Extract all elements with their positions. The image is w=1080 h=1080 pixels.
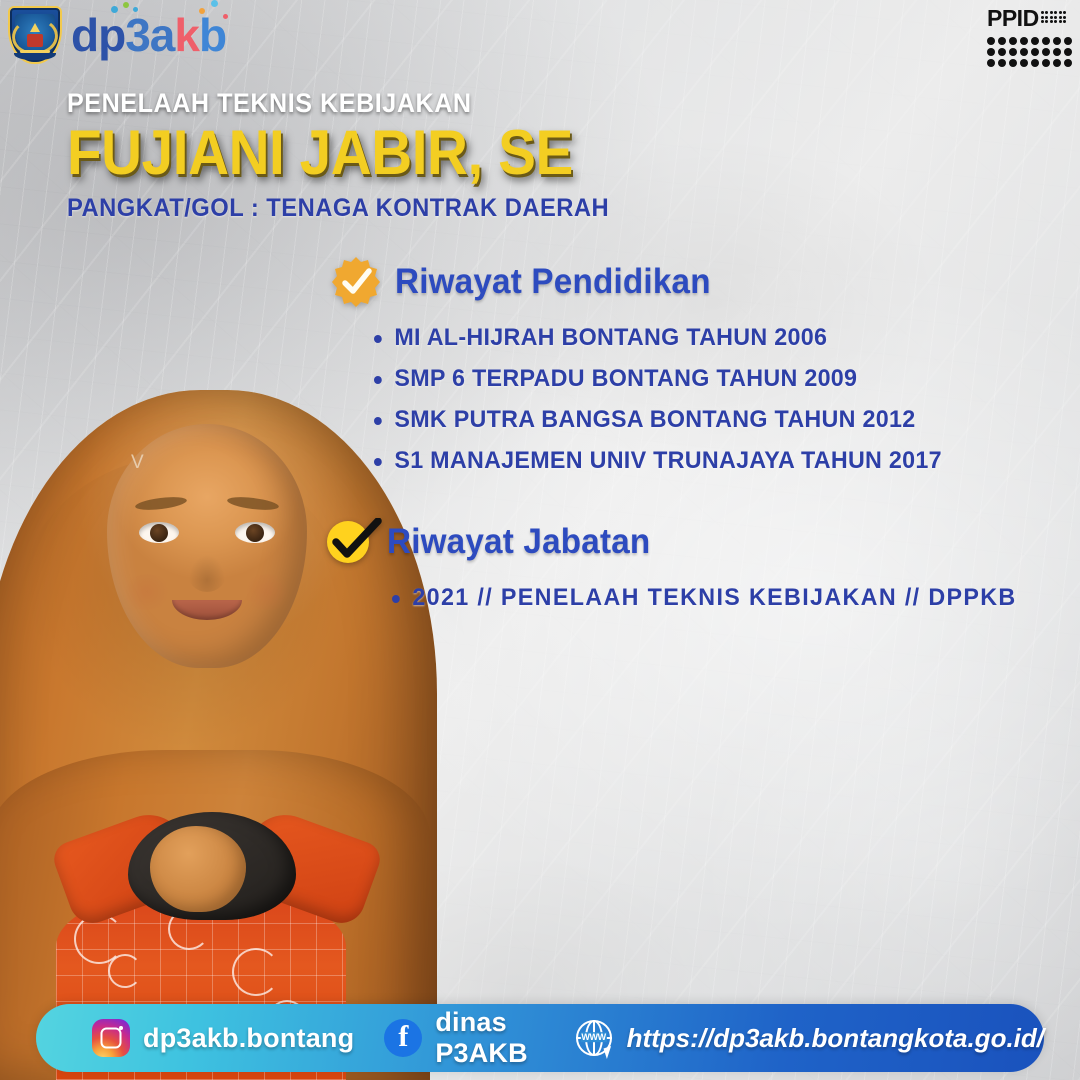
positions-section: Riwayat Jabatan 2021 // PENELAAH TEKNIS … <box>326 518 1036 625</box>
social-footer-bar: dp3akb.bontang dinas P3AKB WWW https://d… <box>36 1004 1044 1072</box>
bullet-dot <box>392 595 400 603</box>
education-section: Riwayat Pendidikan MI AL-HIJRAH BONTANG … <box>330 256 959 488</box>
poster-canvas: dp3akb PPID V <box>0 0 1080 1080</box>
ppid-dots-small <box>1041 11 1067 23</box>
clasped-hands <box>150 826 246 912</box>
sparkle-icon <box>133 7 138 12</box>
list-item: 2021 // PENELAAH TEKNIS KEBIJAKAN // DPP… <box>392 584 1017 612</box>
bullet-dot <box>374 458 382 466</box>
dp3akb-wordmark: dp3akb <box>71 12 226 58</box>
sparkle-icon <box>199 8 205 14</box>
sparkle-icon <box>111 6 118 13</box>
bullet-dot <box>374 376 382 384</box>
wordmark-3: 3 <box>125 9 150 61</box>
list-item: S1 MANAJEMEN UNIV TRUNAJAYA TAHUN 2017 <box>374 447 942 475</box>
check-circle-icon <box>326 518 374 566</box>
instagram-handle[interactable]: dp3akb.bontang <box>92 1019 354 1057</box>
sparkle-icon <box>211 0 218 7</box>
education-list: MI AL-HIJRAH BONTANG TAHUN 2006 SMP 6 TE… <box>374 324 959 475</box>
facebook-handle[interactable]: dinas P3AKB <box>384 1007 543 1069</box>
wordmark-dp: dp <box>71 9 125 61</box>
website-label: https://dp3akb.bontangkota.go.id/ <box>627 1023 1044 1054</box>
facebook-label: dinas P3AKB <box>435 1007 543 1069</box>
face-shape: V <box>107 424 307 668</box>
education-heading: Riwayat Pendidikan <box>395 262 711 302</box>
job-title: PENELAAH TEKNIS KEBIJAKAN <box>67 88 662 119</box>
wordmark-b: b <box>199 9 226 61</box>
ppid-label: PPID <box>987 8 1039 30</box>
globe-icon[interactable]: WWW <box>574 1018 614 1058</box>
watermark-v: V <box>131 452 144 474</box>
list-item: SMK PUTRA BANGSA BONTANG TAHUN 2012 <box>374 406 942 434</box>
ppid-dots-grid <box>987 37 1072 67</box>
wordmark-k: k <box>174 9 199 61</box>
bullet-dot <box>374 335 382 343</box>
facebook-icon[interactable] <box>384 1019 422 1057</box>
list-item-label: 2021 // PENELAAH TEKNIS KEBIJAKAN // DPP… <box>412 584 1016 612</box>
bontang-city-crest-icon <box>8 6 62 64</box>
list-item-label: MI AL-HIJRAH BONTANG TAHUN 2006 <box>394 324 827 352</box>
positions-heading: Riwayat Jabatan <box>387 522 650 562</box>
sparkle-icon <box>123 2 129 8</box>
positions-list: 2021 // PENELAAH TEKNIS KEBIJAKAN // DPP… <box>392 584 1036 612</box>
check-badge-icon <box>330 256 382 308</box>
wordmark-a: a <box>150 9 175 61</box>
instagram-icon[interactable] <box>92 1019 130 1057</box>
list-item: SMP 6 TERPADU BONTANG TAHUN 2009 <box>374 365 942 393</box>
list-item-label: SMK PUTRA BANGSA BONTANG TAHUN 2012 <box>394 406 915 434</box>
list-item: MI AL-HIJRAH BONTANG TAHUN 2006 <box>374 324 942 352</box>
website-link[interactable]: WWW https://dp3akb.bontangkota.go.id/ <box>574 1018 1044 1058</box>
profile-title-block: PENELAAH TEKNIS KEBIJAKAN FUJIANI JABIR,… <box>67 88 707 223</box>
list-item-label: SMP 6 TERPADU BONTANG TAHUN 2009 <box>394 365 857 393</box>
rank-line: PANGKAT/GOL : TENAGA KONTRAK DAERAH <box>67 194 675 223</box>
officer-name: FUJIANI JABIR, SE <box>67 121 643 185</box>
list-item-label: S1 MANAJEMEN UNIV TRUNAJAYA TAHUN 2017 <box>394 447 941 475</box>
ppid-logo: PPID <box>987 8 1072 67</box>
bullet-dot <box>374 417 382 425</box>
instagram-label: dp3akb.bontang <box>143 1023 354 1054</box>
sparkle-icon <box>223 14 228 19</box>
brand-logo-row: dp3akb <box>8 6 226 64</box>
